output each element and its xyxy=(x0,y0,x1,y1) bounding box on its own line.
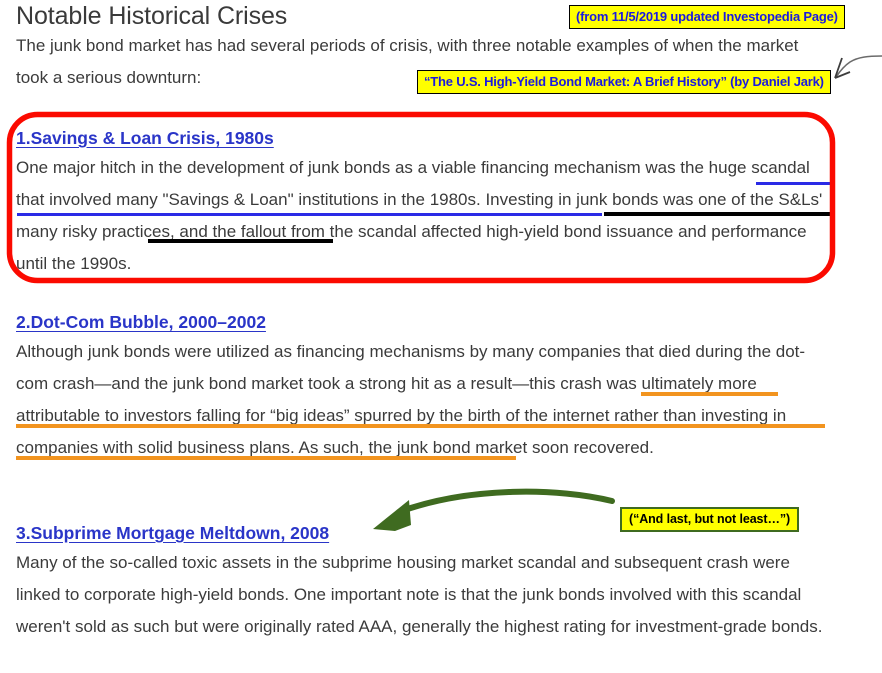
black-underline-mark xyxy=(148,239,333,243)
green-curved-arrow-shaft xyxy=(399,492,612,512)
section-savings-and-loan: 1.Savings & Loan Crisis, 1980s One major… xyxy=(16,126,836,280)
thin-gray-curved-arrow-head xyxy=(835,58,850,78)
section-dot-com-bubble: 2.Dot-Com Bubble, 2000–2002 Although jun… xyxy=(16,310,836,464)
section-heading-link-1[interactable]: 1.Savings & Loan Crisis, 1980s xyxy=(16,126,274,150)
page-title: Notable Historical Crises xyxy=(16,0,616,32)
callout-source-note[interactable]: (from 11/5/2019 updated Investopedia Pag… xyxy=(569,5,845,29)
callout-article-note[interactable]: “The U.S. High-Yield Bond Market: A Brie… xyxy=(417,70,831,94)
blue-underline-mark xyxy=(756,182,832,185)
blue-underline-mark xyxy=(17,213,602,216)
section-body-2: Although junk bonds were utilized as fin… xyxy=(16,336,828,464)
section-body-1: One major hitch in the development of ju… xyxy=(16,152,831,280)
section-heading-link-3[interactable]: 3.Subprime Mortgage Meltdown, 2008 xyxy=(16,521,329,545)
thin-gray-curved-arrow xyxy=(836,56,882,77)
callout-last-note[interactable]: (“And last, but not least…”) xyxy=(620,507,799,532)
section-subprime-meltdown: 3.Subprime Mortgage Meltdown, 2008 Many … xyxy=(16,521,836,643)
orange-underline-mark xyxy=(16,456,516,460)
black-underline-mark xyxy=(604,212,833,216)
orange-underline-mark xyxy=(16,424,825,428)
section-body-3: Many of the so-called toxic assets in th… xyxy=(16,547,828,643)
section-heading-link-2[interactable]: 2.Dot-Com Bubble, 2000–2002 xyxy=(16,310,266,334)
orange-underline-mark xyxy=(641,392,778,396)
